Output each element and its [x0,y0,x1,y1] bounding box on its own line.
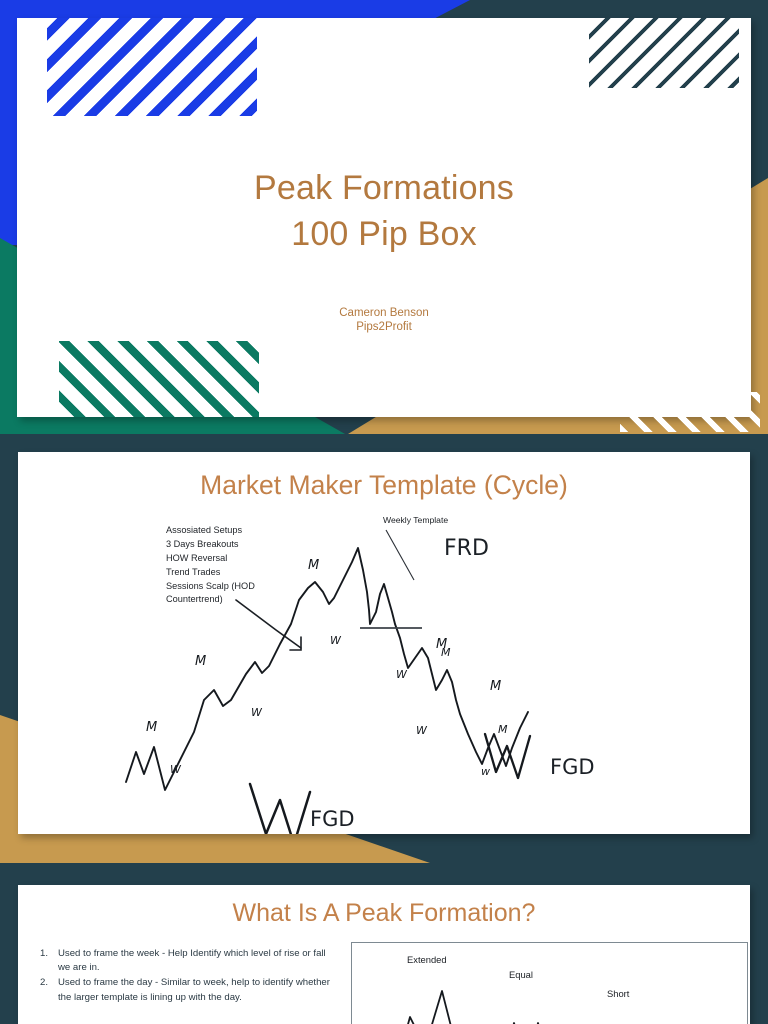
svg-text:FGD: FGD [550,755,595,779]
svg-text:M: M [490,679,501,694]
svg-text:FRD: FRD [444,536,489,561]
slide-1-subtitle: Cameron Benson Pips2Profit [17,306,751,335]
svg-text:M: M [441,646,451,659]
slide-1-title-line-1: Peak Formations [17,166,751,212]
slide-3-title: What Is A Peak Formation? [18,899,750,928]
svg-text:M: M [146,720,157,735]
slide-2-card[interactable]: Market Maker Template (Cycle) Assosiated… [18,452,750,834]
blue-diagonal-stripes-decoration [47,18,257,116]
svg-text:W: W [251,706,263,719]
navy-diagonal-stripes-decoration [589,18,739,88]
list-item-number: 1. [30,947,58,975]
slide-1[interactable]: Peak Formations 100 Pip Box Cameron Bens… [0,0,768,434]
svg-text:FGD: FGD [310,807,355,831]
slide-3-card[interactable]: What Is A Peak Formation? 1. Used to fra… [18,885,750,1024]
teal-diagonal-stripes-decoration [59,341,259,417]
svg-text:W: W [170,763,182,776]
list-item-number: 2. [30,976,58,1004]
list-item-text: Used to frame the day - Similar to week,… [58,976,330,1004]
author-name: Cameron Benson [17,306,751,320]
market-maker-cycle-handdrawn-chart: M M M M M W W W W W M M w [18,452,750,834]
peak-formation-numbered-list: 1. Used to frame the week - Help Identif… [30,947,330,1006]
slide-1-title: Peak Formations 100 Pip Box [17,166,751,257]
slide-2[interactable]: Market Maker Template (Cycle) Assosiated… [0,437,768,863]
slide-1-card[interactable]: Peak Formations 100 Pip Box Cameron Bens… [17,18,751,417]
svg-text:W: W [396,668,408,681]
svg-text:W: W [416,724,428,737]
svg-text:M: M [308,558,319,573]
list-item: 2. Used to frame the day - Similar to we… [30,976,330,1004]
svg-text:M: M [498,723,508,736]
list-item-text: Used to frame the week - Help Identify w… [58,947,330,975]
peak-formation-shapes [352,943,748,1024]
slide-deck-viewer[interactable]: Peak Formations 100 Pip Box Cameron Bens… [0,0,768,1024]
svg-text:w: w [481,765,490,778]
list-item: 1. Used to frame the week - Help Identif… [30,947,330,975]
svg-text:M: M [195,654,206,669]
slide-1-title-line-2: 100 Pip Box [17,212,751,258]
peak-formation-diagram: Extended Equal Short [351,942,748,1024]
svg-text:W: W [330,634,342,647]
brand-name: Pips2Profit [17,320,751,334]
slide-3[interactable]: What Is A Peak Formation? 1. Used to fra… [0,866,768,1024]
